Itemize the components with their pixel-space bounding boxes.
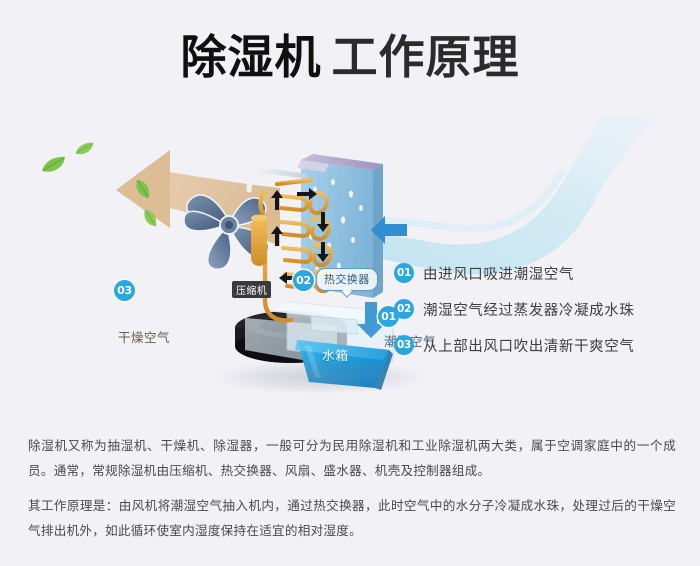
body-paragraph-1: 除湿机又称为抽湿机、干燥机、除湿器，一般可分为民用除湿机和工业除湿机两大类，属于… xyxy=(28,433,676,483)
page-title-part1: 除湿机 xyxy=(181,30,322,84)
callout-heat-exchanger: 热交换器 xyxy=(316,268,378,291)
list-item: 01 由进风口吸进潮湿空气 xyxy=(394,255,684,291)
leaf-icon xyxy=(142,208,158,228)
page-title: 除湿机工作原理 xyxy=(0,30,700,85)
legend-label: 潮湿空气经过蒸发器冷凝成水珠 xyxy=(423,299,634,320)
legend-label: 由进风口吸进潮湿空气 xyxy=(423,263,574,284)
label-water-tank: 水箱 xyxy=(322,345,349,364)
legend-badge: 02 xyxy=(394,299,414,319)
legend-badge: 01 xyxy=(394,263,414,283)
legend-label: 从上部出风口吹出清新干爽空气 xyxy=(423,335,634,356)
legend-badge: 03 xyxy=(394,335,414,355)
badge-heat-exchanger: 02 xyxy=(293,270,314,291)
leaf-icon xyxy=(134,178,151,200)
list-item: 02 潮湿空气经过蒸发器冷凝成水珠 xyxy=(394,291,684,327)
label-dry-air: 干燥空气 xyxy=(118,327,170,346)
badge-dry-air: 03 xyxy=(114,280,135,301)
legend-list: 01 由进风口吸进潮湿空气 02 潮湿空气经过蒸发器冷凝成水珠 03 从上部出风… xyxy=(394,255,684,363)
label-compressor: 压缩机 xyxy=(232,281,271,298)
body-paragraph-2: 其工作原理是：由风机将潮湿空气抽入机内，通过热交换器，此时空气中的水分子冷凝成水… xyxy=(28,493,676,543)
page-title-part2: 工作原理 xyxy=(332,30,520,84)
leaf-icon xyxy=(74,142,94,156)
list-item: 03 从上部出风口吹出清新干爽空气 xyxy=(394,327,684,363)
leaf-icon xyxy=(40,156,66,174)
